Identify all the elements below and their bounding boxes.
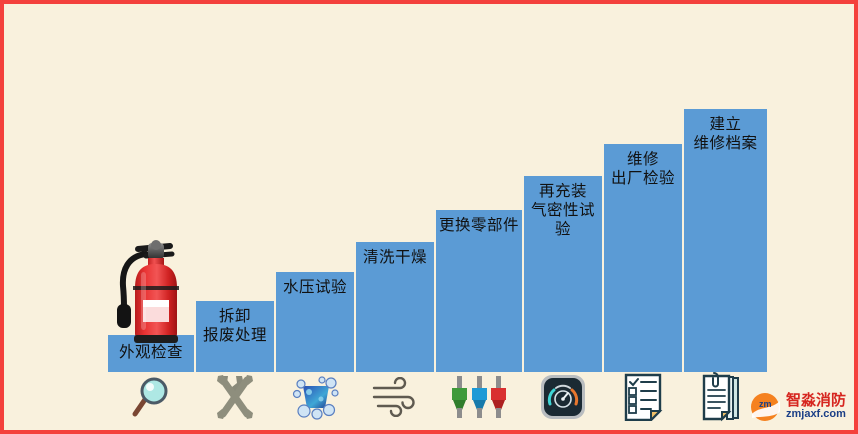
fire-extinguisher-illustration (112, 232, 194, 348)
bar-step-7: 维修 出厂检验 (604, 144, 682, 372)
bar-label-2: 拆卸 报废处理 (203, 308, 267, 346)
infographic-canvas: 外观检查 拆卸 报废处理 水压试验 清洗干燥 更换零部件 再充装 气密性试验 维… (0, 0, 858, 434)
bar-step-8: 建立 维修档案 (684, 109, 767, 372)
bar-label-8: 建立 维修档案 (693, 116, 757, 154)
bar-label-5: 更换零部件 (439, 217, 519, 236)
bar-step-4: 清洗干燥 (356, 242, 434, 372)
watermark: zm 智淼消防 zmjaxf.com (750, 392, 846, 422)
connectors-icon (449, 370, 509, 424)
checklist-icon (613, 370, 673, 424)
bar-label-7: 维修 出厂检验 (611, 151, 675, 189)
bar-step-3: 水压试验 (276, 272, 354, 372)
watermark-logo-icon: zm (750, 392, 782, 422)
watermark-title: 智淼消防 (786, 393, 846, 409)
bar-step-2: 拆卸 报废处理 (196, 301, 274, 372)
bar-label-3: 水压试验 (283, 279, 347, 298)
bar-label-4: 清洗干燥 (363, 249, 427, 268)
watermark-url: zmjaxf.com (786, 409, 846, 421)
svg-text:zm: zm (759, 399, 772, 409)
bar-step-6: 再充装 气密性试验 (524, 176, 602, 372)
bar-label-6: 再充装 气密性试验 (524, 183, 602, 240)
magnifier-icon (121, 370, 181, 424)
bar-step-5: 更换零部件 (436, 210, 522, 372)
washing-bubbles-icon (285, 370, 345, 424)
wind-icon (365, 370, 425, 424)
documents-icon (693, 370, 753, 424)
gauge-icon (533, 370, 593, 424)
wrench-icon (205, 370, 265, 424)
